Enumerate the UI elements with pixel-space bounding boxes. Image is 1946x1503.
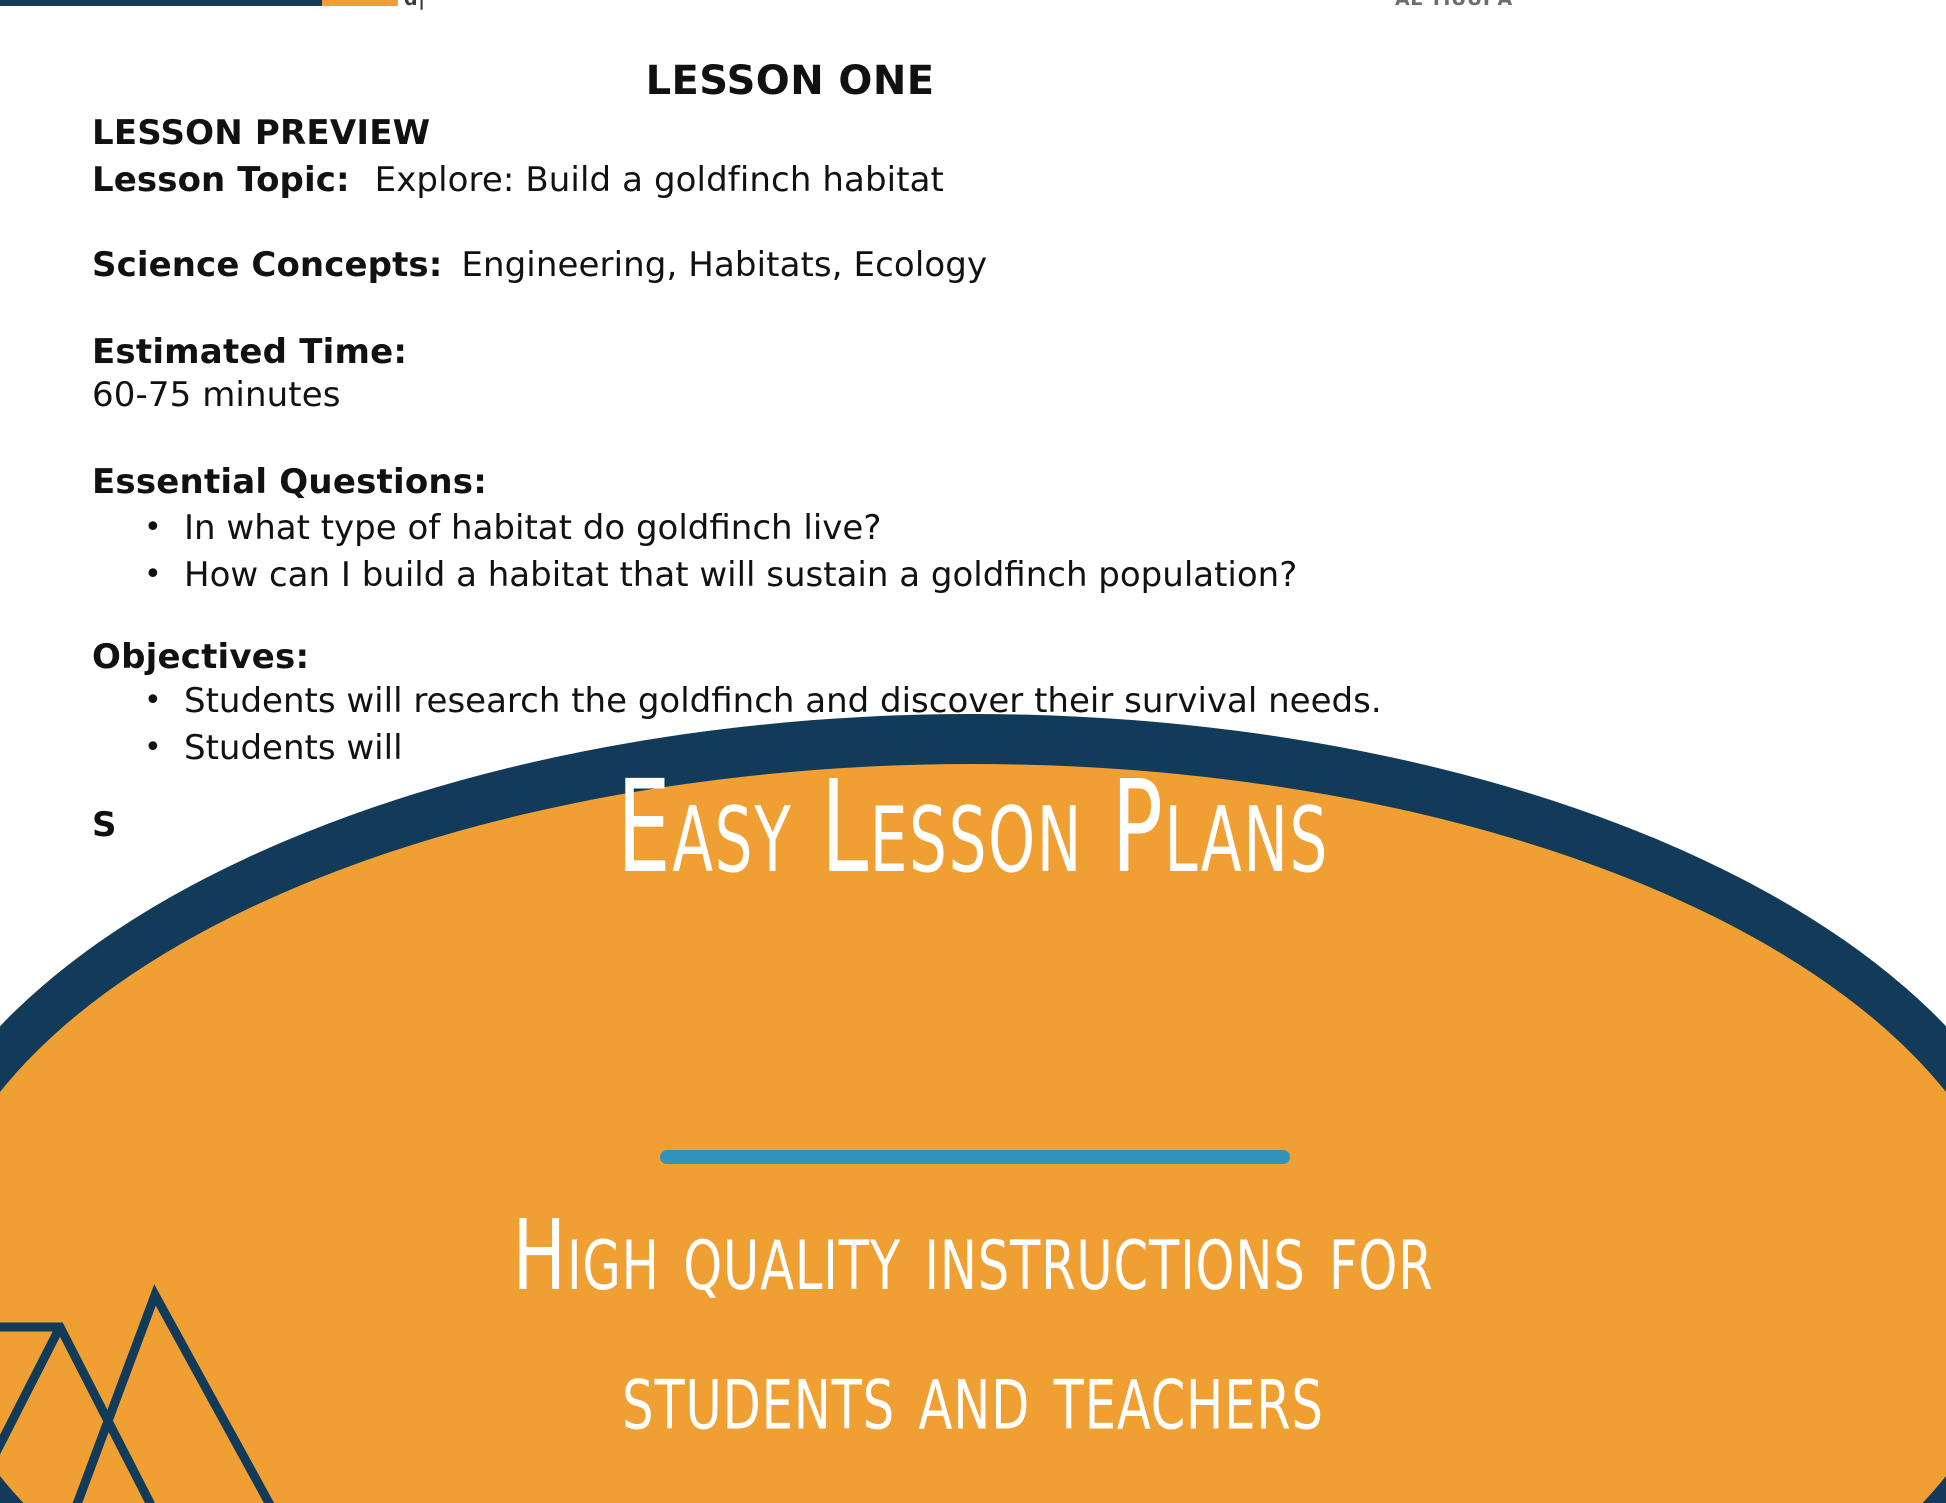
science-concepts-row: Science Concepts: Engineering, Habitats,… [92, 245, 987, 285]
essential-questions-label: Essential Questions: [92, 462, 487, 502]
objectives-label: Objectives: [92, 637, 309, 677]
lesson-topic-value: Explore: Build a goldfinch habitat [361, 160, 944, 200]
list-item: In what type of habitat do goldfinch liv… [184, 505, 1297, 552]
lesson-topic-label: Lesson Topic: [92, 160, 350, 200]
badge-subtitle-line-1: High quality instructions for [136, 1186, 1810, 1326]
badge-title: Easy Lesson Plans [195, 762, 1752, 892]
badge-divider [660, 1150, 1290, 1164]
page-title: LESSON ONE [0, 58, 1580, 104]
mountain-outline-icon [0, 1273, 330, 1503]
science-concepts-label: Science Concepts: [92, 245, 442, 285]
screenshot-root: d| AL TIUUI A LESSON ONE LESSON PREVIEW … [0, 0, 1946, 1503]
science-concepts-value: Engineering, Habitats, Ecology [453, 245, 987, 285]
estimated-time-label: Estimated Time: [92, 332, 407, 372]
badge-subtitle: High quality instructions for students a… [136, 1186, 1810, 1466]
lesson-topic-row: Lesson Topic: Explore: Build a goldfinch… [92, 160, 944, 200]
estimated-time-value: 60-75 minutes [92, 375, 341, 415]
list-item: How can I build a habitat that will sust… [184, 552, 1297, 599]
badge-subtitle-line-2: students and teachers [136, 1326, 1810, 1466]
lesson-preview-heading: LESSON PREVIEW [92, 113, 430, 153]
essential-questions-list: In what type of habitat do goldfinch liv… [92, 505, 1297, 599]
